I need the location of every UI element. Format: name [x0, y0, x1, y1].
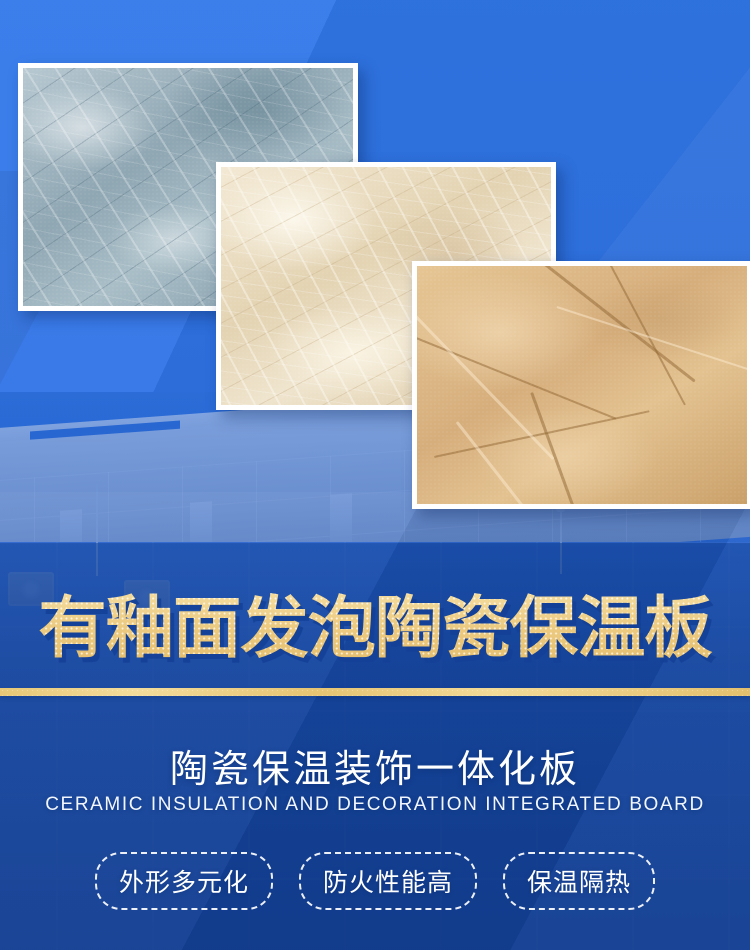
product-banner: 有釉面发泡陶瓷保温板 陶瓷保温装饰一体化板 CERAMIC INSULATION… — [0, 0, 750, 950]
page-title: 有釉面发泡陶瓷保温板 — [0, 586, 750, 670]
subtitle-chinese: 陶瓷保温装饰一体化板 — [0, 738, 750, 793]
gold-divider — [0, 688, 750, 696]
feature-pill-fire-resistance[interactable]: 防火性能高 — [299, 852, 477, 910]
tile-sample-tan-gold-marble[interactable] — [412, 261, 750, 509]
subtitle-english: CERAMIC INSULATION AND DECORATION INTEGR… — [0, 794, 750, 816]
feature-pill-shape-variety[interactable]: 外形多元化 — [95, 852, 273, 910]
feature-pill-list: 外形多元化 防火性能高 保温隔热 — [0, 852, 750, 910]
tile-speckle — [417, 266, 747, 504]
feature-pill-thermal-insulation[interactable]: 保温隔热 — [503, 852, 655, 910]
